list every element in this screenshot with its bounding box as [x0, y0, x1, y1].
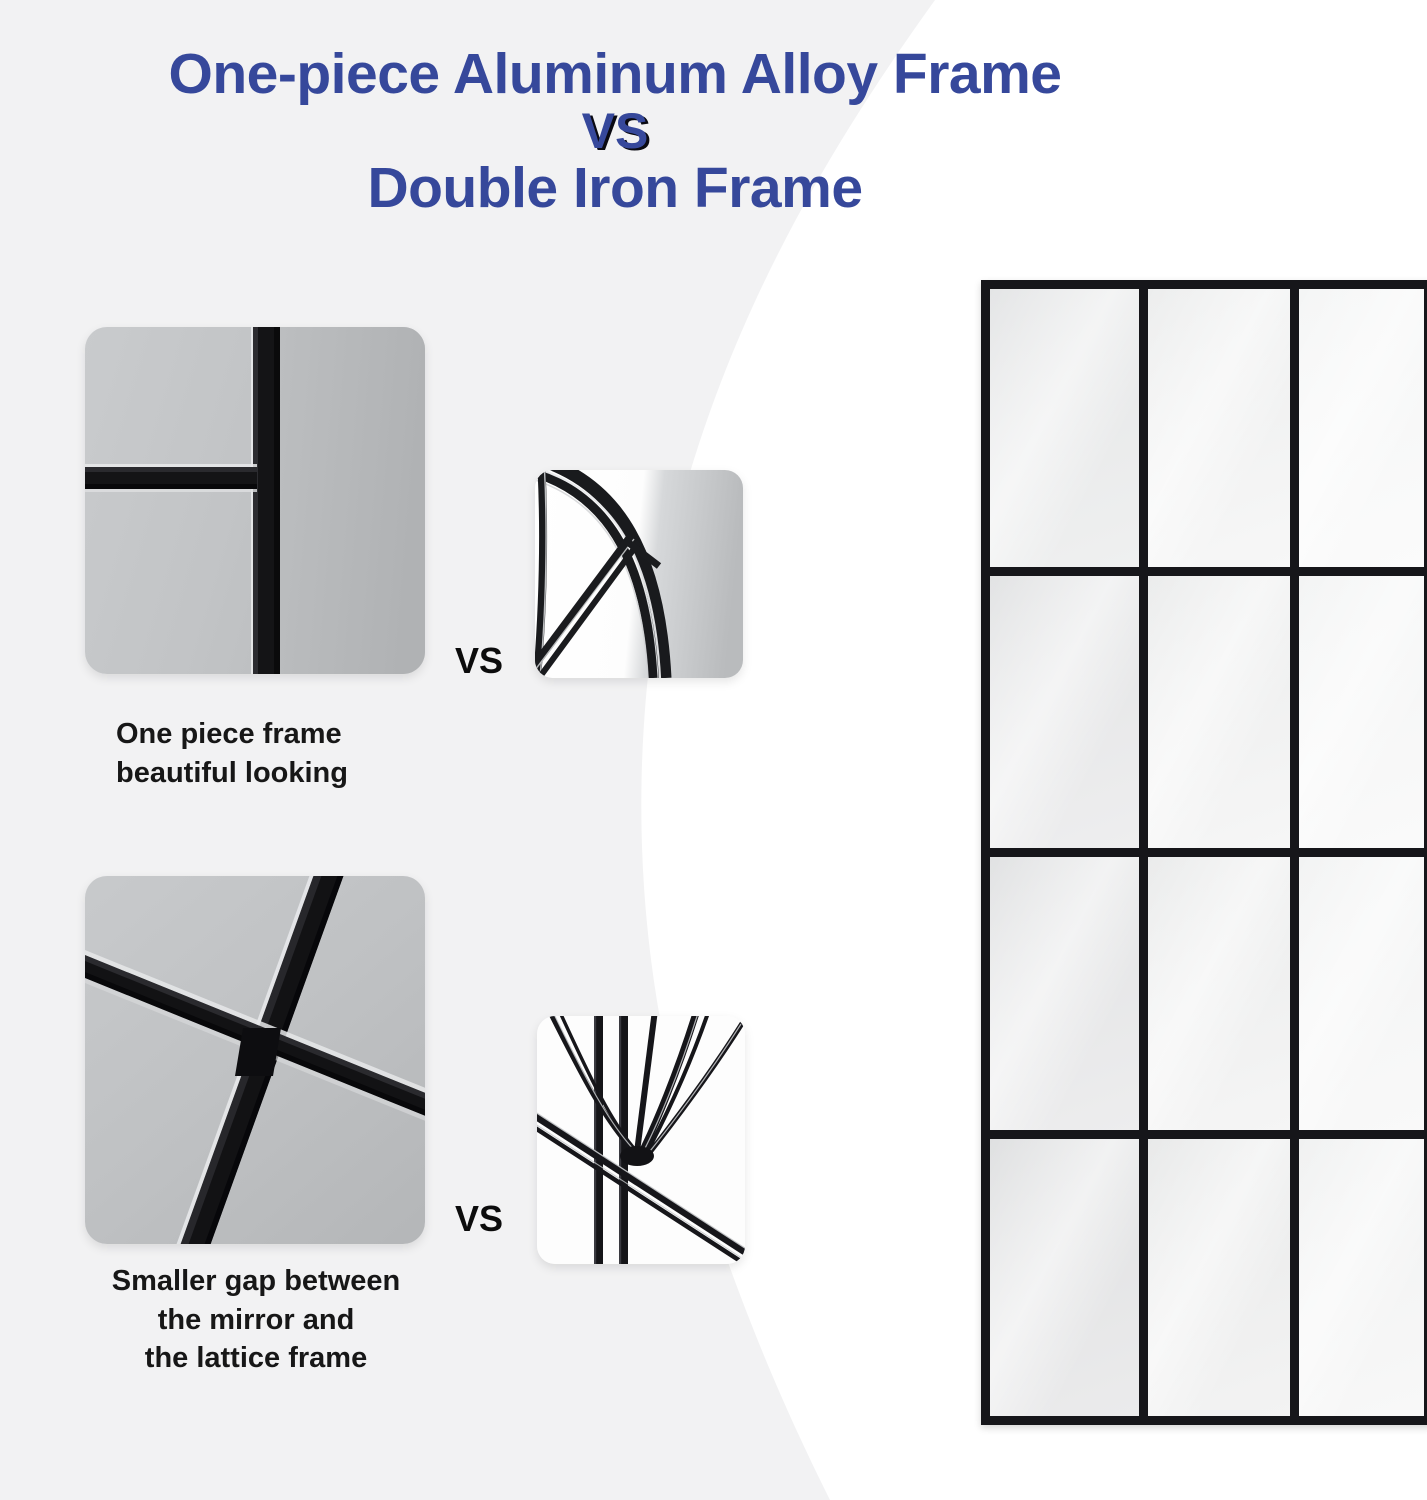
- page-title: One-piece Aluminum Alloy Frame VS Double…: [0, 44, 1230, 219]
- mirror-pane: [1148, 1139, 1290, 1416]
- mirror-pane: [1299, 289, 1424, 567]
- mirror-pane: [1299, 857, 1424, 1130]
- mirror-pane-grid: [990, 289, 1424, 1416]
- mirror-pane: [1148, 576, 1290, 848]
- mirror-pane: [990, 1139, 1139, 1416]
- mirror-pane: [990, 576, 1139, 848]
- title-line-2: Double Iron Frame: [0, 158, 1230, 218]
- mirror-pane: [1299, 576, 1424, 848]
- mirror-pane: [990, 289, 1139, 567]
- photo-aluminum-lattice-cross-closeup: [85, 876, 425, 1244]
- title-line-1: One-piece Aluminum Alloy Frame: [0, 44, 1230, 104]
- vs-label-comparison-2: VS: [455, 1198, 503, 1240]
- photo-double-iron-frame-joint-closeup: [537, 1016, 745, 1264]
- photo-one-piece-frame-closeup: [85, 327, 425, 674]
- caption-comparison-1: One piece frame beautiful looking: [116, 715, 496, 792]
- mirror-pane: [990, 857, 1139, 1130]
- product-mirror-full-length: [981, 280, 1427, 1425]
- infographic-page: One-piece Aluminum Alloy Frame VS Double…: [0, 0, 1427, 1500]
- caption-comparison-2: Smaller gap between the mirror and the l…: [56, 1262, 456, 1378]
- title-vs-label: VS: [0, 104, 1230, 158]
- photo-double-iron-frame-curved-closeup: [535, 470, 743, 678]
- mirror-pane: [1148, 857, 1290, 1130]
- vs-label-comparison-1: VS: [455, 640, 503, 682]
- mirror-pane: [1299, 1139, 1424, 1416]
- mirror-pane: [1148, 289, 1290, 567]
